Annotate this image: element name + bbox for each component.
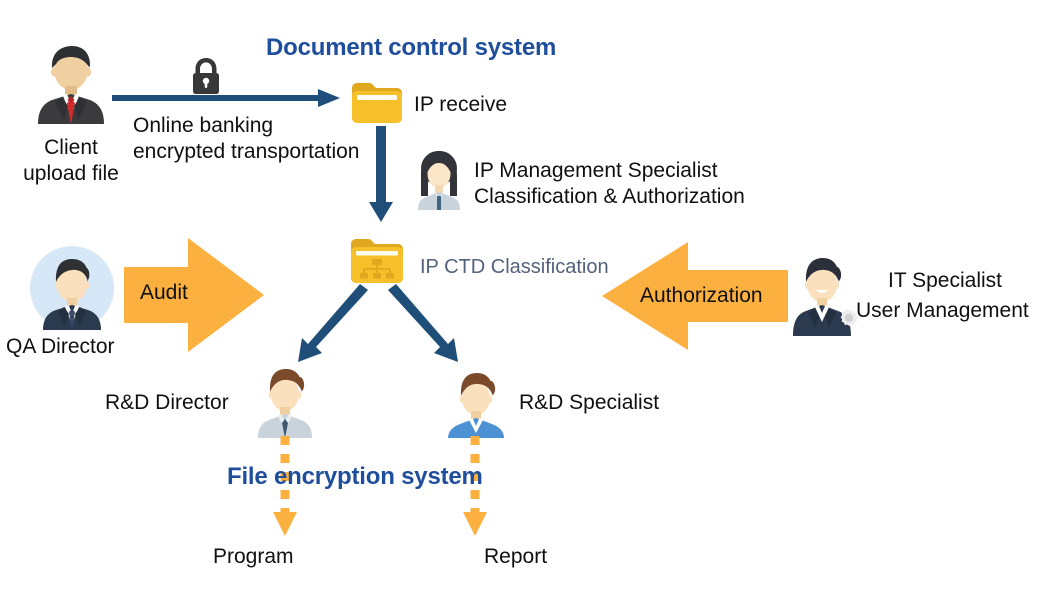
client-label-line1: Client	[34, 135, 108, 161]
rd-specialist-label: R&D Specialist	[519, 390, 659, 416]
ip-ctd-label: IP CTD Classification	[420, 256, 609, 279]
branch-arrows-ip-ctd	[288, 284, 468, 366]
folder-hierarchy-icon-ip-ctd	[349, 234, 407, 286]
transport-label-line2: encrypted transportation	[133, 139, 359, 165]
program-label: Program	[213, 544, 294, 570]
rd-director-avatar	[249, 364, 321, 438]
it-specialist-label-line2: User Management	[856, 298, 1029, 324]
rd-director-label: R&D Director	[105, 390, 229, 416]
ip-receive-label: IP receive	[414, 92, 507, 118]
client-avatar	[32, 42, 110, 124]
authorization-arrow-label: Authorization	[640, 284, 763, 308]
transport-label-line1: Online banking	[133, 113, 273, 139]
it-specialist-label-line1: IT Specialist	[888, 268, 1002, 294]
female-specialist-avatar	[410, 148, 468, 210]
arrow-client-to-ip-receive	[112, 87, 342, 111]
rd-specialist-avatar	[440, 368, 512, 438]
folder-icon-ip-receive	[350, 78, 404, 126]
qa-director-avatar	[30, 246, 114, 330]
it-specialist-avatar	[785, 252, 863, 336]
audit-arrow-label: Audit	[140, 281, 188, 305]
page-title-file-encryption-system: File encryption system	[227, 463, 483, 491]
ip-specialist-label-line1: IP Management Specialist	[474, 158, 718, 184]
qa-director-label: QA Director	[6, 334, 115, 360]
client-label-line2: upload file	[14, 161, 128, 187]
diagram-canvas: Document control system	[0, 0, 1056, 600]
report-label: Report	[484, 544, 547, 570]
arrow-ip-receive-to-ip-ctd	[368, 126, 394, 224]
ip-specialist-label-line2: Classification & Authorization	[474, 184, 745, 210]
page-title-document-control-system: Document control system	[266, 34, 556, 62]
